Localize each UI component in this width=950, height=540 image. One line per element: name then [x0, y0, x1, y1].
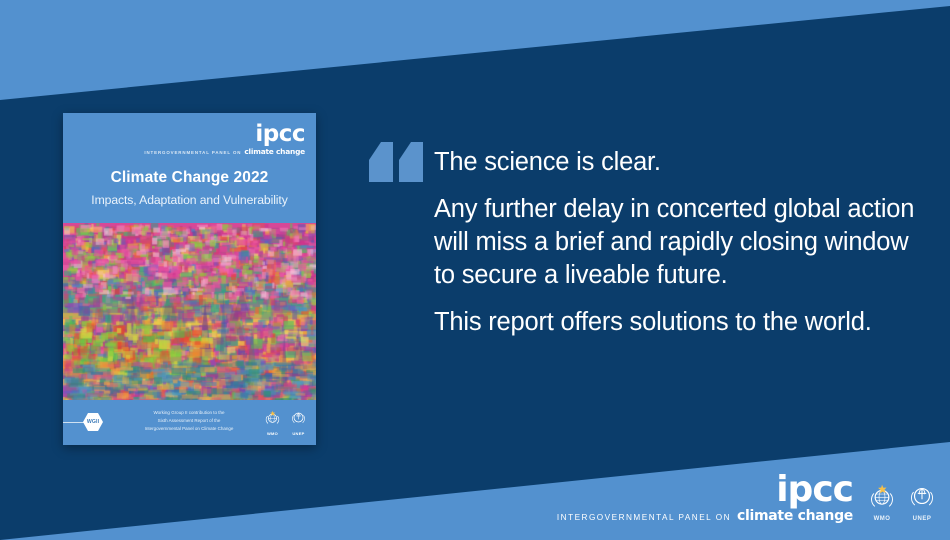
working-group-badge-label: WGII [87, 419, 99, 425]
footer-unep-logo: UNEP [907, 483, 937, 522]
footer-unep-label: UNEP [907, 516, 937, 522]
cover-logo-tagline-small: INTERGOVERNMENTAL PANEL ON [144, 150, 241, 155]
cover-artwork [63, 223, 316, 400]
report-cover-image: ipcc INTERGOVERNMENTAL PANEL ON climate … [63, 113, 316, 445]
cover-org-logos: WMO UNEP [263, 410, 308, 436]
cover-wmo-logo: WMO [263, 410, 282, 436]
slide-canvas: ipcc INTERGOVERNMENTAL PANEL ON climate … [0, 0, 950, 540]
footer-tagline-bold: climate change [737, 508, 853, 524]
cover-logo-tagline-bold: climate change [244, 147, 305, 156]
working-group-connector-line [63, 422, 85, 423]
quote-paragraph-3: This report offers solutions to the worl… [434, 306, 926, 339]
quote-paragraph-1: The science is clear. [434, 146, 926, 179]
unep-emblem-icon [289, 410, 308, 430]
cover-subtitle: Impacts, Adaptation and Vulnerability [63, 193, 316, 207]
quote-mark-icon [369, 142, 425, 195]
cover-artwork-canvas [63, 223, 316, 400]
quote-text-block: The science is clear. Any further delay … [434, 146, 926, 338]
footer-org-logos: WMO UNEP [867, 483, 937, 522]
unep-emblem-icon [907, 483, 937, 514]
cover-credit-line-2: Sixth Assessment Report of the [133, 417, 245, 425]
wmo-emblem-icon [263, 410, 282, 430]
cover-credit-line-3: Intergovernmental Panel on Climate Chang… [133, 425, 245, 433]
wmo-emblem-icon [867, 483, 897, 514]
cover-logo-wordmark: ipcc [144, 123, 305, 146]
working-group-badge: WGII [83, 413, 103, 431]
cover-title: Climate Change 2022 [63, 169, 316, 187]
footer-tagline-small: INTERGOVERNMENTAL PANEL ON [557, 513, 731, 522]
cover-credit-line-1: Working Group II contribution to the [133, 409, 245, 417]
cover-ipcc-logo: ipcc INTERGOVERNMENTAL PANEL ON climate … [144, 123, 305, 156]
footer-ipcc-logo: ipcc INTERGOVERNMENTAL PANEL ON climate … [557, 473, 853, 524]
cover-credit-text: Working Group II contribution to the Six… [133, 409, 245, 433]
footer-wmo-logo: WMO [867, 483, 897, 522]
quote-paragraph-2: Any further delay in concerted global ac… [434, 193, 926, 292]
cover-unep-logo: UNEP [289, 410, 308, 436]
cover-footer: WGII Working Group II contribution to th… [63, 400, 316, 445]
cover-wmo-label: WMO [263, 431, 282, 436]
footer-logo-wordmark: ipcc [557, 473, 853, 506]
cover-unep-label: UNEP [289, 431, 308, 436]
footer-wmo-label: WMO [867, 516, 897, 522]
